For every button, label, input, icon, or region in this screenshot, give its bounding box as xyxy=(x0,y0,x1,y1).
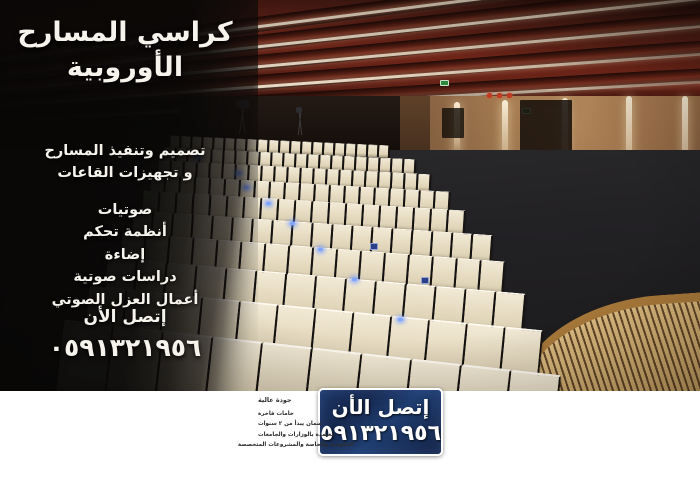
wall-indicator-light xyxy=(497,93,502,98)
row-number-badge xyxy=(370,243,378,250)
service-line-5: إضاءة xyxy=(105,247,145,263)
feature-item: ضمان يبدأ من ٢ سنوات xyxy=(258,419,354,429)
service-line-4: أنظمة تحكم xyxy=(83,224,167,240)
wall-speaker xyxy=(442,108,464,138)
ad-headline: كراسي المسارح الأوروبية xyxy=(8,16,242,85)
exit-sign-icon xyxy=(440,80,449,86)
wall-opening xyxy=(520,100,572,152)
wall-indicator-light xyxy=(507,93,512,98)
features-list: جودة عالية خامات فاخرة ضمان يبدأ من ٢ سن… xyxy=(258,395,354,450)
aisle-led-light xyxy=(398,318,403,321)
wall-indicator-light xyxy=(487,93,492,98)
feature-item: معتمدة بالوزارات والجامعات xyxy=(258,430,354,440)
ad-copy: كراسي المسارح الأوروبية تصميم وتنفيذ الم… xyxy=(0,0,250,391)
aisle-led-light xyxy=(266,202,271,205)
cta-phone-number: ٠٥٩١٣٢١٩٥٦ xyxy=(8,332,242,365)
aisle-led-light xyxy=(318,248,323,251)
auditorium-photo: كراسي المسارح الأوروبية تصميم وتنفيذ الم… xyxy=(0,0,700,391)
advertisement-image: كراسي المسارح الأوروبية تصميم وتنفيذ الم… xyxy=(0,0,700,496)
bottom-banner: كراسي المسارح الأوروبية إتصل الأن ٠٥٩١٣٢… xyxy=(0,391,700,496)
cta-label: إتصل الأن xyxy=(83,307,166,327)
headline-line-1: كراسي المسارح xyxy=(17,17,232,48)
service-line-1: تصميم وتنفيذ المسارح xyxy=(44,143,205,159)
feature-item: خامات فاخرة xyxy=(258,409,354,419)
aisle-led-light xyxy=(352,278,357,281)
aisle-led-light xyxy=(290,222,295,225)
service-line-3: صوتيات xyxy=(98,202,152,218)
services-list: تصميم وتنفيذ المسارح و تجهيزات القاعات ص… xyxy=(10,140,240,311)
feature-item: جودة عالية xyxy=(258,395,354,407)
service-line-2: و تجهيزات القاعات xyxy=(57,165,192,181)
feature-item: الحكومية والخاصة والمشروعات المتخصصة xyxy=(258,440,354,450)
service-line-6: دراسات صوتية xyxy=(73,269,176,285)
headline-line-2: الأوروبية xyxy=(67,52,183,83)
row-number-badge xyxy=(421,277,429,284)
call-to-action: إتصل الأن ٠٥٩١٣٢١٩٥٦ xyxy=(8,306,242,365)
